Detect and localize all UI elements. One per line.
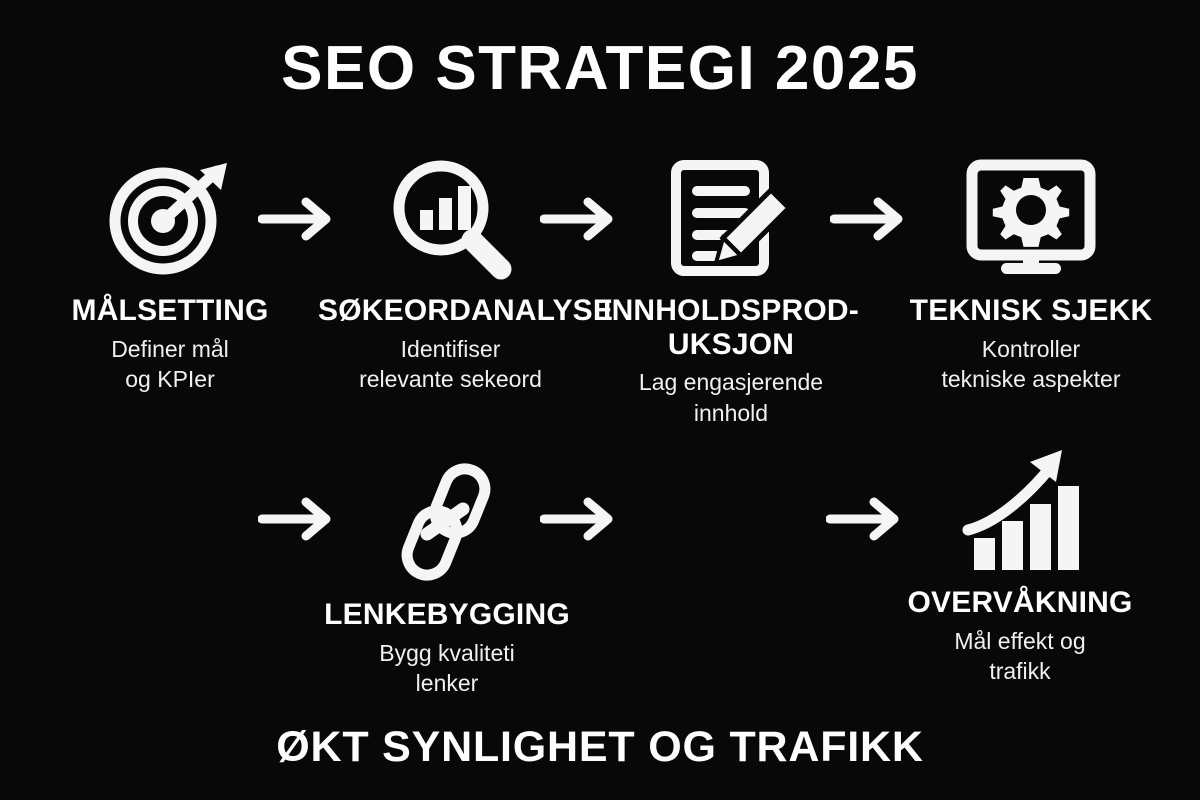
page-title: SEO STRATEGI 2025 xyxy=(0,36,1200,101)
monitor-gear-icon xyxy=(900,158,1162,278)
step-description-line: Lag engasjerende xyxy=(600,367,862,397)
step-overvakning: OVERVÅKNING Mål effekt og trafikk xyxy=(890,450,1150,686)
chain-link-icon xyxy=(318,462,576,582)
step-description-line: tekniske aspekter xyxy=(900,364,1162,394)
document-pencil-icon xyxy=(600,158,862,278)
step-description-line: Kontroller xyxy=(900,334,1162,364)
step-title-line: UKSJON xyxy=(600,328,862,362)
step-description: Bygg kvaliteti lenker xyxy=(318,638,576,699)
step-description-line: Definer mål xyxy=(40,334,300,364)
step-description-line: lenker xyxy=(318,668,576,698)
step-description-line: Mål effekt og xyxy=(890,626,1150,656)
growth-chart-arrow-icon xyxy=(890,450,1150,570)
infographic-canvas: SEO STRATEGI 2025 MÅLSETTING Definer mål… xyxy=(0,0,1200,800)
step-sokeordanalyse: SØKEORDANALYSE Identifiser relevante sek… xyxy=(318,158,583,394)
step-description: Definer mål og KPIer xyxy=(40,334,300,395)
step-teknisk-sjekk: TEKNISK SJEKK Kontroller tekniske aspekt… xyxy=(900,158,1162,394)
step-description: Identifiser relevante sekeord xyxy=(318,334,583,395)
step-description-line: relevante sekeord xyxy=(318,364,583,394)
step-malsetting: MÅLSETTING Definer mål og KPIer xyxy=(40,158,300,394)
step-description-line: innhold xyxy=(600,398,862,428)
step-title: MÅLSETTING xyxy=(40,294,300,328)
step-description-line: Identifiser xyxy=(318,334,583,364)
step-title-line: INNHOLDSPROD- xyxy=(600,294,862,328)
step-title: OVERVÅKNING xyxy=(890,586,1150,620)
step-innholdsproduksjon: INNHOLDSPROD- UKSJON Lag engasjerende in… xyxy=(600,158,862,428)
step-lenkebygging: LENKEBYGGING Bygg kvaliteti lenker xyxy=(318,462,576,698)
step-title: LENKEBYGGING xyxy=(318,598,576,632)
step-description-line: Bygg kvaliteti xyxy=(318,638,576,668)
footer-banner: ØKT SYNLIGHET OG TRAFIKK xyxy=(0,723,1200,772)
step-title: INNHOLDSPROD- UKSJON xyxy=(600,294,862,361)
step-title: TEKNISK SJEKK xyxy=(900,294,1162,328)
arrow-right-icon xyxy=(540,497,620,541)
step-description: Lag engasjerende innhold xyxy=(600,367,862,428)
step-description: Mål effekt og trafikk xyxy=(890,626,1150,687)
step-title: SØKEORDANALYSE xyxy=(318,294,583,328)
step-description: Kontroller tekniske aspekter xyxy=(900,334,1162,395)
step-description-line: trafikk xyxy=(890,656,1150,686)
step-description-line: og KPIer xyxy=(40,364,300,394)
arrow-right-icon xyxy=(830,197,910,241)
